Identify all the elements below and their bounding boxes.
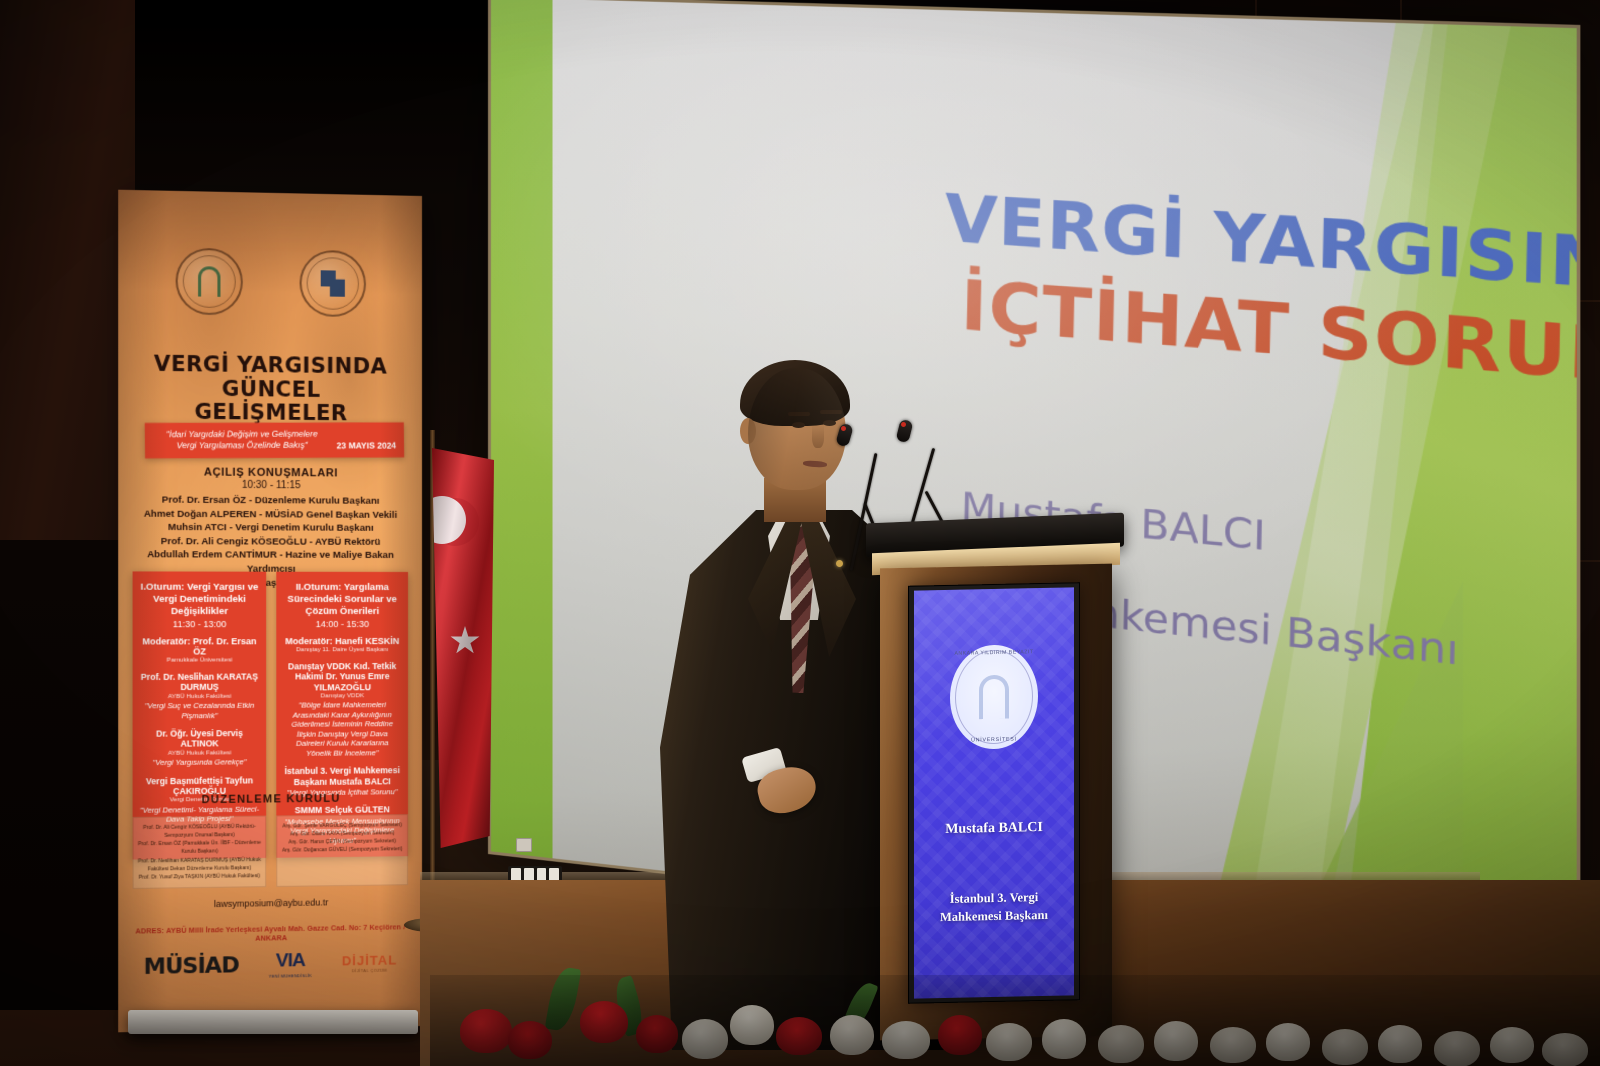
banner-date: 23 MAYIS 2024 — [337, 440, 397, 450]
banner-surface: VERGİ YARGISINDA GÜNCEL GELİŞMELER SEMPO… — [118, 190, 422, 1033]
crescent-icon — [432, 496, 466, 544]
session-1-affiliation: AYBÜ Hukuk Fakültesi — [140, 749, 259, 757]
session-1-talk-title: "Vergi Yargısında Gerekçe" — [140, 757, 259, 767]
list-item: Prof. Dr. Yusuf Ziya TAŞKIN (AYBÜ Hukuk … — [138, 872, 261, 882]
banner-university-seals — [118, 247, 422, 318]
opening-heading: AÇILIŞ KONUŞMALARI — [128, 466, 412, 480]
stage-flower-arrangement — [430, 975, 1600, 1066]
seal-bottom-text: ÜNİVERSİTESİ — [950, 736, 1038, 744]
podium-display-surface: ANKARA YILDIRIM BEYAZIT ÜNİVERSİTESİ Mus… — [914, 587, 1074, 998]
conference-stage-scene: VERGİ YARGISINDA İÇTİHAT SORUNU Mustafa … — [0, 0, 1600, 1066]
session-1-moderator: Moderatör: Prof. Dr. Ersan ÖZ — [140, 636, 259, 656]
podium: ANKARA YILDIRIM BEYAZIT ÜNİVERSİTESİ Mus… — [880, 518, 1118, 1038]
list-item: Prof. Dr. Ersan ÖZ - Düzenleme Kurulu Ba… — [128, 493, 412, 508]
star-icon — [450, 626, 480, 656]
pamukkale-seal-icon — [300, 250, 366, 317]
list-item: Muhsin ATCI - Vergi Denetim Kurulu Başka… — [128, 521, 412, 536]
banner-committee-section: DÜZENLEME KURULU Prof. Dr. Ali Cengiz KÖ… — [133, 792, 408, 889]
session-2-speaker: İstanbul 3. Vergi Mahkemesi Başkanı Must… — [283, 766, 401, 788]
list-item: Prof. Dr. Neslihan KARATAŞ DURMUŞ (AYBÜ … — [138, 856, 261, 874]
banner-email: lawsymposium@aybu.edu.tr — [118, 896, 422, 910]
session-2-moderator: Moderatör: Hanefi KESKİN — [283, 636, 401, 646]
session-2-talk-title: "Bölge İdare Mahkemeleri Arasındaki Kara… — [283, 701, 401, 759]
dijital-logo: DİJİTAL DİJİTAL ÇÖZÜM — [342, 952, 397, 973]
rollup-banner: VERGİ YARGISINDA GÜNCEL GELİŞMELER SEMPO… — [118, 190, 422, 1033]
lapel-pin — [836, 560, 843, 567]
podium-role-line2: Mahkemesi Başkanı — [914, 905, 1074, 926]
banner-subtitle-bar: "İdari Yargıdaki Değişim ve Gelişmelere … — [145, 422, 405, 458]
list-item: Arş. Gör. Doğancan GÜVELİ (Sempozyum Sek… — [281, 846, 403, 856]
turkish-flag — [432, 448, 494, 848]
list-item: Prof. Dr. Ali Cengiz KÖSEOĞLU (AYBÜ Rekt… — [138, 823, 261, 841]
banner-sponsor-logos: MÜSİAD VIA YENİ MÜHENDİSLİK DİJİTAL DİJİ… — [128, 948, 412, 981]
opening-time: 10:30 - 11:15 — [128, 479, 412, 492]
session-1-talk-title: "Vergi Suç ve Cezalarında Etkin Pişmanlı… — [140, 701, 259, 721]
slide-green-left-band — [491, 0, 553, 858]
podium-speaker-name: Mustafa BALCI — [914, 819, 1074, 838]
session-1-heading: I.Oturum: Vergi Yargısı ve Vergi Denetim… — [140, 582, 259, 618]
session-2-speaker: Danıştay VDDK Kıd. Tetkik Hakimi Dr. Yun… — [283, 661, 401, 692]
session-1-moderator-affiliation: Pamukkale Üniversitesi — [140, 656, 259, 664]
session-2-heading: II.Oturum: Yargılama Sürecindeki Sorunla… — [283, 582, 401, 618]
via-logo-sub: YENİ MÜHENDİSLİK — [269, 973, 312, 979]
dijital-logo-mark: DİJİTAL — [342, 952, 397, 968]
banner-subtitle-line2: Vergi Yargılaması Özelinde Bakış" — [153, 440, 331, 452]
banner-stand-base — [128, 1010, 418, 1034]
dijital-logo-sub: DİJİTAL ÇÖZÜM — [352, 968, 387, 974]
left-dark-column — [0, 540, 120, 1010]
slide-green-ribbons — [1191, 17, 1576, 974]
list-item: Ahmet Doğan ALPEREN - MÜSİAD Genel Başka… — [128, 507, 412, 522]
committee-heading: DÜZENLEME KURULU — [133, 792, 408, 807]
via-logo-mark: VIA — [276, 950, 305, 973]
banner-subtitle-line1: "İdari Yargıdaki Değişim ve Gelişmelere — [153, 429, 331, 441]
session-1-time: 11:30 - 13:00 — [140, 619, 259, 629]
list-item: Prof. Dr. Ali Cengiz KÖSEOĞLU - AYBÜ Rek… — [128, 535, 412, 550]
list-item: Prof. Dr. Ersan ÖZ (Pamukkale Ün. İİBF -… — [138, 839, 261, 857]
university-seal-icon: ANKARA YILDIRIM BEYAZIT ÜNİVERSİTESİ — [950, 644, 1038, 750]
session-1-speaker: Dr. Öğr. Üyesi Derviş ALTINOK — [140, 728, 259, 750]
podium-display-screen: ANKARA YILDIRIM BEYAZIT ÜNİVERSİTESİ Mus… — [908, 582, 1080, 1004]
musiad-logo: MÜSİAD — [144, 953, 239, 980]
session-1-affiliation: AYBÜ Hukuk Fakültesi — [140, 692, 259, 700]
committee-left-column: Prof. Dr. Ali Cengiz KÖSEOĞLU (AYBÜ Rekt… — [133, 816, 267, 889]
via-logo: VIA YENİ MÜHENDİSLİK — [269, 950, 312, 979]
session-2-moderator-affiliation: Danıştay 11. Daire Üyesi Başkanı — [283, 646, 401, 654]
power-outlet[interactable] — [516, 838, 532, 852]
committee-right-column: Arş. Gör. Şerife VARGÜLEÇ (Sempozyum Sek… — [276, 814, 408, 887]
banner-title-line1: VERGİ YARGISINDA GÜNCEL — [133, 352, 408, 403]
session-2-affiliation: Danıştay VDDK — [283, 692, 401, 700]
face-shading — [748, 368, 846, 490]
podium-speaker-role: İstanbul 3. Vergi Mahkemesi Başkanı — [914, 887, 1074, 927]
ankara-yildirim-beyazit-seal-icon — [176, 248, 243, 316]
session-1-speaker: Prof. Dr. Neslihan KARATAŞ DURMUŞ — [140, 672, 259, 693]
session-2-time: 14:00 - 15:30 — [283, 619, 401, 629]
banner-address: ADRES: AYBÜ Milli İrade Yerleşkesi Ayval… — [126, 922, 414, 945]
seal-top-text: ANKARA YILDIRIM BEYAZIT — [950, 649, 1038, 657]
